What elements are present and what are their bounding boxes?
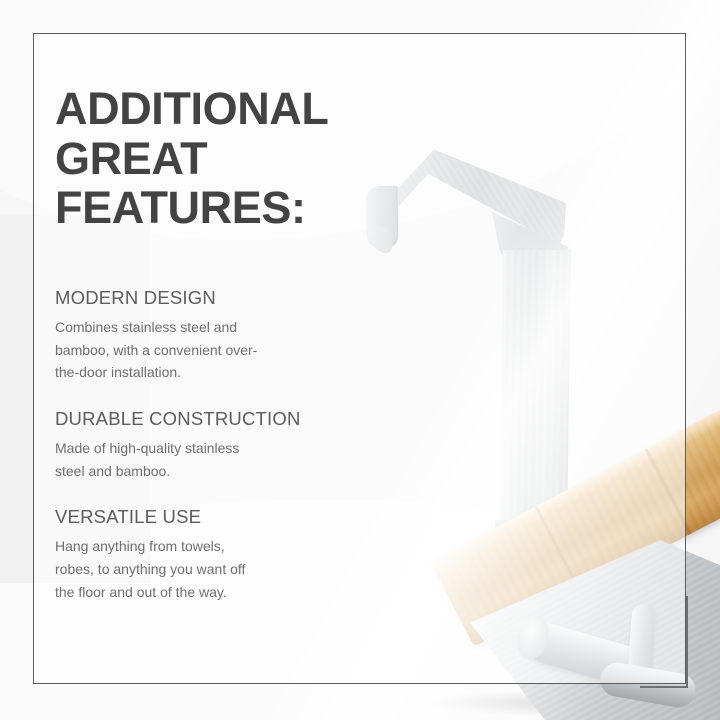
feature-body: Made of high-quality stainless steel and… — [55, 437, 317, 482]
headline-line-3: FEATURES: — [55, 183, 365, 233]
feature-body-line: Made of high-quality stainless — [55, 437, 317, 460]
feature-body-line: bamboo, with a convenient over- — [55, 339, 317, 362]
infographic-canvas: ADDITIONAL GREAT FEATURES: MODERN DESIGN… — [0, 0, 720, 720]
headline-line-1: ADDITIONAL — [55, 84, 365, 134]
page-title: ADDITIONAL GREAT FEATURES: — [55, 84, 365, 233]
feature-body: Combines stainless steel and bamboo, wit… — [55, 316, 317, 384]
feature-item-durable-construction: DURABLE CONSTRUCTION Made of high-qualit… — [55, 408, 317, 482]
feature-body-line: robes, to anything you want off — [55, 558, 317, 581]
feature-body-line: Hang anything from towels, — [55, 535, 317, 558]
headline-block: ADDITIONAL GREAT FEATURES: — [55, 84, 365, 233]
feature-title: DURABLE CONSTRUCTION — [55, 408, 317, 430]
feature-body-line: Combines stainless steel and — [55, 316, 317, 339]
feature-body-line: the-door installation. — [55, 361, 317, 384]
feature-list: MODERN DESIGN Combines stainless steel a… — [55, 287, 317, 603]
feature-title: VERSATILE USE — [55, 506, 317, 528]
feature-body: Hang anything from towels, robes, to any… — [55, 535, 317, 603]
feature-body-line: steel and bamboo. — [55, 460, 317, 483]
feature-title: MODERN DESIGN — [55, 287, 317, 309]
feature-body-line: the floor and out of the way. — [55, 581, 317, 604]
feature-item-modern-design: MODERN DESIGN Combines stainless steel a… — [55, 287, 317, 384]
feature-item-versatile-use: VERSATILE USE Hang anything from towels,… — [55, 506, 317, 603]
headline-line-2: GREAT — [55, 134, 365, 184]
